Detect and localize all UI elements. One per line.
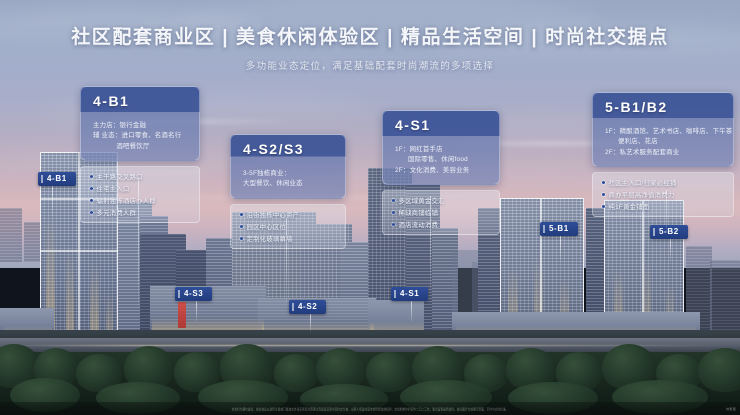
header-block: 社区配套商业区 | 美食休闲体验区 | 精品生活空间 | 时尚社交据点 多功能业… — [0, 0, 740, 72]
bullet-label: 住宅主入口 — [97, 184, 130, 193]
bullet-item: 园区中心区位 — [240, 222, 286, 231]
distant-building — [24, 222, 40, 262]
card-line: 大型餐饮、休闲业态 — [243, 179, 333, 189]
tag-stem — [670, 238, 671, 262]
bullet-item: 酒店流动消费 — [392, 220, 438, 229]
bullet-label: 多区域黄金交汇 — [399, 196, 445, 205]
tag-stem — [310, 314, 311, 332]
card-body: 1F：网红首手店 国际零售、休闲food 2F：文化消费、美容业务 — [383, 139, 499, 184]
card-line: 便利店、花店 — [605, 137, 721, 147]
card-line: 辅 业态：进口零食、名酒名行 — [93, 131, 187, 141]
bullet-label: 辐射独栋酒店办人群 — [97, 196, 156, 205]
building-tag-5-b1[interactable]: 5-B1 — [540, 222, 578, 236]
bullet-item: 定制化玻璃幕墙 — [240, 234, 293, 243]
bullet-dot-icon — [90, 199, 93, 202]
card-title: 4-B1 — [81, 87, 199, 115]
bullet-dot-icon — [602, 181, 605, 184]
bullet-label: 沿街独栋中心资产 — [247, 210, 300, 219]
footer-bar: 本资料为要约邀请，相关信息以政府主管部门批准文件及买卖双方签署之商品房买卖合同约… — [0, 402, 740, 415]
bullet-dot-icon — [392, 211, 395, 214]
tag-stem — [411, 300, 412, 322]
card-body: 1F：精酿酒馆、艺术书店、咖啡店、下午茶 便利店、花店 2F：私艺术服务配套商业 — [593, 121, 733, 166]
info-card-4-s2-s3[interactable]: 4-S2/S3 3-5F独栋商业： 大型餐饮、休闲业态 沿街独栋中心资产 园区中… — [230, 134, 346, 249]
card-bullets: 主干路交叉路口 住宅主入口 辐射独栋酒店办人群 多元消费人群 — [80, 166, 200, 223]
card-line: 酒吧餐饮厅 — [93, 142, 187, 152]
footer-note: 效果图 — [726, 407, 736, 411]
card-line: 主力店：银行金融 — [93, 121, 187, 131]
info-card-4-b1[interactable]: 4-B1 主力店：银行金融 辅 业态：进口零食、名酒名行 酒吧餐饮厅 主干路交叉… — [80, 86, 200, 223]
card-line: 1F：网红首手店 — [395, 145, 487, 155]
bullet-label: 多元消费人群 — [97, 208, 137, 217]
page-title: 社区配套商业区 | 美食休闲体验区 | 精品生活空间 | 时尚社交据点 — [0, 22, 740, 49]
building-tag-4-b1[interactable]: 4-B1 — [38, 172, 76, 186]
bullet-label: 纯1F黄金铺面 — [609, 202, 650, 211]
bullet-item: 沿街独栋中心资产 — [240, 210, 299, 219]
bullet-item: 辐射独栋酒店办人群 — [90, 196, 156, 205]
card-bullets: 多区域黄金交汇 稀缺商铺临铺 酒店流动消费 — [382, 190, 500, 235]
poster-canvas: 社区配套商业区 | 美食休闲体验区 | 精品生活空间 | 时尚社交据点 多功能业… — [0, 0, 740, 415]
bullet-dot-icon — [90, 175, 93, 178]
card-title: 5-B1/B2 — [593, 93, 733, 121]
card-line: 3-5F独栋商业： — [243, 169, 333, 179]
card-line: 2F：私艺术服务配套商业 — [605, 148, 721, 158]
tree — [698, 348, 740, 392]
bullet-item: 多元消费人群 — [90, 208, 136, 217]
bullet-item: 主干路交叉路口 — [90, 172, 143, 181]
bullet-label: 商办平层高净值消费力 — [609, 190, 675, 199]
building-tag-5-b2[interactable]: 5-B2 — [650, 225, 688, 239]
tag-stem — [52, 182, 53, 218]
info-card-5-b1-b2[interactable]: 5-B1/B2 1F：精酿酒馆、艺术书店、咖啡店、下午茶 便利店、花店 2F：私… — [592, 92, 734, 217]
card-line: 国际零售、休闲food — [395, 155, 487, 165]
building-tag-4-s2[interactable]: 4-S2 — [289, 300, 326, 314]
bullet-dot-icon — [240, 213, 243, 216]
card-body: 3-5F独栋商业： 大型餐饮、休闲业态 — [231, 163, 345, 198]
bullet-label: 酒店流动消费 — [399, 220, 439, 229]
card-title: 4-S1 — [383, 111, 499, 139]
card-body: 主力店：银行金融 辅 业态：进口零食、名酒名行 酒吧餐饮厅 — [81, 115, 199, 160]
bullet-dot-icon — [90, 187, 93, 190]
card-box: 4-B1 主力店：银行金融 辅 业态：进口零食、名酒名行 酒吧餐饮厅 — [80, 86, 200, 161]
legal-disclaimer: 本资料为要约邀请，相关信息以政府主管部门批准文件及买卖双方签署之商品房买卖合同约… — [232, 406, 509, 411]
bullet-dot-icon — [392, 199, 395, 202]
bullet-item: 稀缺商铺临铺 — [392, 208, 438, 217]
bullet-dot-icon — [392, 223, 395, 226]
tag-stem — [560, 236, 561, 262]
card-box: 4-S1 1F：网红首手店 国际零售、休闲food 2F：文化消费、美容业务 — [382, 110, 500, 185]
building-tag-4-s1[interactable]: 4-S1 — [391, 287, 428, 301]
page-subtitle: 多功能业态定位，满足基础配套时尚潮流的多项选择 — [0, 58, 740, 72]
bullet-item: 商办平层高净值消费力 — [602, 190, 674, 199]
bullet-label: 定制化玻璃幕墙 — [247, 234, 293, 243]
card-bullets: 沿街独栋中心资产 园区中心区位 定制化玻璃幕墙 — [230, 204, 346, 249]
bullet-label: 主干路交叉路口 — [97, 172, 143, 181]
card-bullets: 社区主入口/归家必经铺 商办平层高净值消费力 纯1F黄金铺面 — [592, 172, 734, 217]
card-box: 4-S2/S3 3-5F独栋商业： 大型餐饮、休闲业态 — [230, 134, 346, 199]
tree — [274, 354, 318, 392]
info-card-4-s1[interactable]: 4-S1 1F：网红首手店 国际零售、休闲food 2F：文化消费、美容业务 多… — [382, 110, 500, 235]
card-line: 1F：精酿酒馆、艺术书店、咖啡店、下午茶 — [605, 127, 721, 137]
bullet-label: 稀缺商铺临铺 — [399, 208, 439, 217]
bullet-label: 社区主入口/归家必经铺 — [609, 178, 677, 187]
bullet-dot-icon — [240, 225, 243, 228]
bullet-item: 住宅主入口 — [90, 184, 129, 193]
card-box: 5-B1/B2 1F：精酿酒馆、艺术书店、咖啡店、下午茶 便利店、花店 2F：私… — [592, 92, 734, 167]
distant-building — [0, 208, 22, 262]
tag-stem — [196, 300, 197, 322]
building-tag-4-s3[interactable]: 4-S3 — [175, 287, 212, 301]
tree — [366, 352, 412, 392]
bullet-item: 纯1F黄金铺面 — [602, 202, 649, 211]
bullet-dot-icon — [602, 193, 605, 196]
card-title: 4-S2/S3 — [231, 135, 345, 163]
card-line: 2F：文化消费、美容业务 — [395, 166, 487, 176]
bullet-item: 社区主入口/归家必经铺 — [602, 178, 676, 187]
bullet-label: 园区中心区位 — [247, 222, 287, 231]
bullet-dot-icon — [90, 211, 93, 214]
bullet-dot-icon — [240, 237, 243, 240]
facade-signage — [178, 302, 186, 328]
bullet-item: 多区域黄金交汇 — [392, 196, 445, 205]
bullet-dot-icon — [602, 205, 605, 208]
